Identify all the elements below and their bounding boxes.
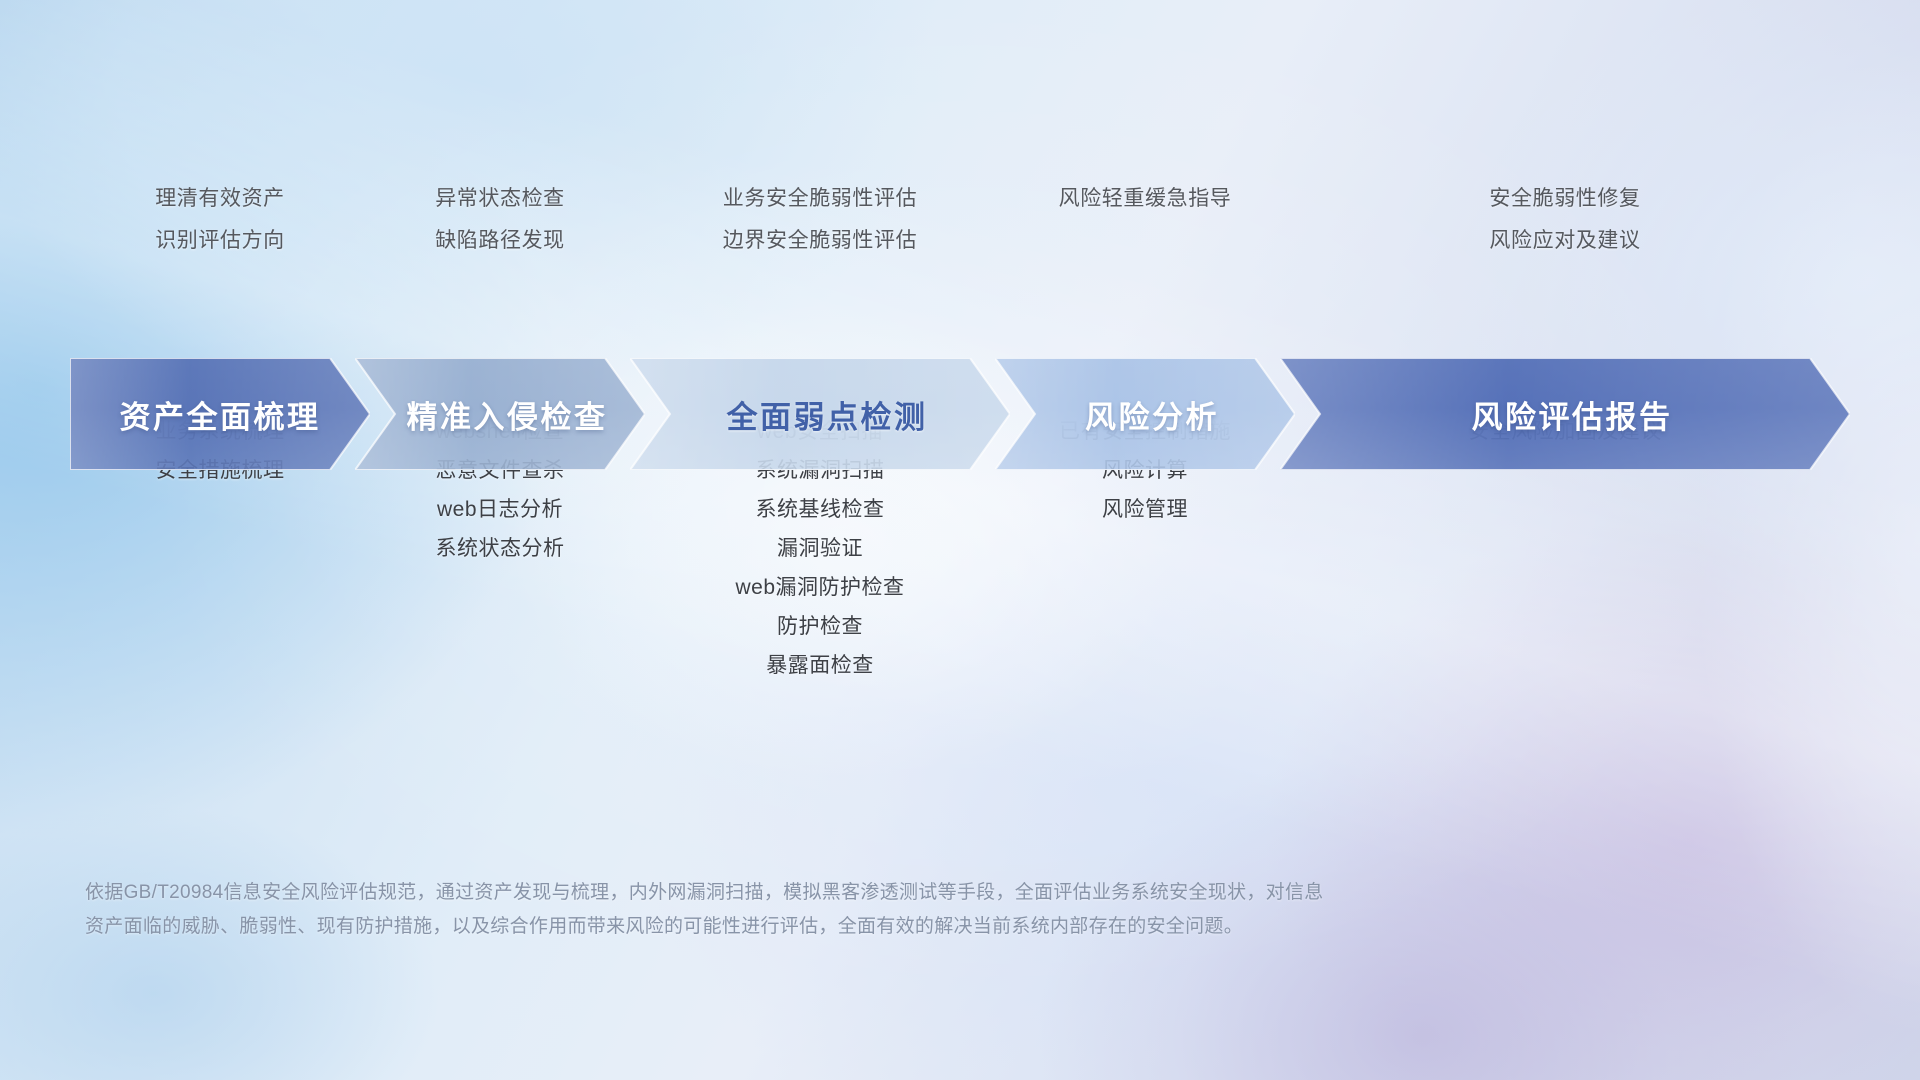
top-note: 安全脆弱性修复 xyxy=(1489,186,1640,212)
top-notes-weakness: 业务安全脆弱性评估边界安全脆弱性评估 xyxy=(630,186,1010,255)
process-stage-intrusion[interactable]: 精准入侵检查 xyxy=(355,358,645,470)
process-stage-asset[interactable]: 资产全面梳理 xyxy=(70,358,370,470)
stage-item: 系统状态分析 xyxy=(436,529,565,568)
stage-item: 暴露面检查 xyxy=(766,646,874,685)
stage-label: 风险评估报告 xyxy=(1472,392,1673,437)
caption-line-2: 资产面临的威胁、脆弱性、现有防护措施，以及综合作用而带来风险的可能性进行评估，全… xyxy=(85,910,1335,944)
stage-label: 精准入侵检查 xyxy=(407,392,608,437)
stage-item: web日志分析 xyxy=(437,490,563,529)
process-chevron-banner: 资产全面梳理精准入侵检查全面弱点检测风险分析风险评估报告 xyxy=(70,358,1850,470)
process-stage-risk-analysis[interactable]: 风险分析 xyxy=(995,358,1295,470)
stage-item: 风险管理 xyxy=(1102,490,1188,529)
top-note: 理清有效资产 xyxy=(155,186,285,212)
top-notes-intrusion: 异常状态检查缺陷路径发现 xyxy=(355,186,645,255)
caption-line-1: 依据GB/T20984信息安全风险评估规范，通过资产发现与梳理，内外网漏洞扫描，… xyxy=(85,876,1335,910)
top-note: 风险应对及建议 xyxy=(1489,228,1640,254)
top-notes-asset: 理清有效资产识别评估方向 xyxy=(70,186,370,255)
top-notes-report: 安全脆弱性修复风险应对及建议 xyxy=(1280,186,1850,255)
stage-item: 系统基线检查 xyxy=(756,490,885,529)
footer-caption: 依据GB/T20984信息安全风险评估规范，通过资产发现与梳理，内外网漏洞扫描，… xyxy=(85,876,1335,944)
process-stage-weakness[interactable]: 全面弱点检测 xyxy=(630,358,1010,470)
top-note: 异常状态检查 xyxy=(435,186,565,212)
top-notes-risk-analysis: 风险轻重缓急指导 xyxy=(995,186,1295,212)
top-note: 识别评估方向 xyxy=(155,228,285,254)
top-note: 风险轻重缓急指导 xyxy=(1059,186,1232,212)
stage-item: 防护检查 xyxy=(777,607,863,646)
stage-item: web漏洞防护检查 xyxy=(735,568,904,607)
stage-label: 资产全面梳理 xyxy=(120,392,321,437)
top-note: 边界安全脆弱性评估 xyxy=(723,228,917,254)
stage-item: 漏洞验证 xyxy=(777,529,863,568)
process-stage-report[interactable]: 风险评估报告 xyxy=(1280,358,1850,470)
stage-label: 全面弱点检测 xyxy=(727,392,928,437)
stage-label: 风险分析 xyxy=(1085,392,1219,437)
top-note: 业务安全脆弱性评估 xyxy=(723,186,917,212)
top-note: 缺陷路径发现 xyxy=(435,228,565,254)
